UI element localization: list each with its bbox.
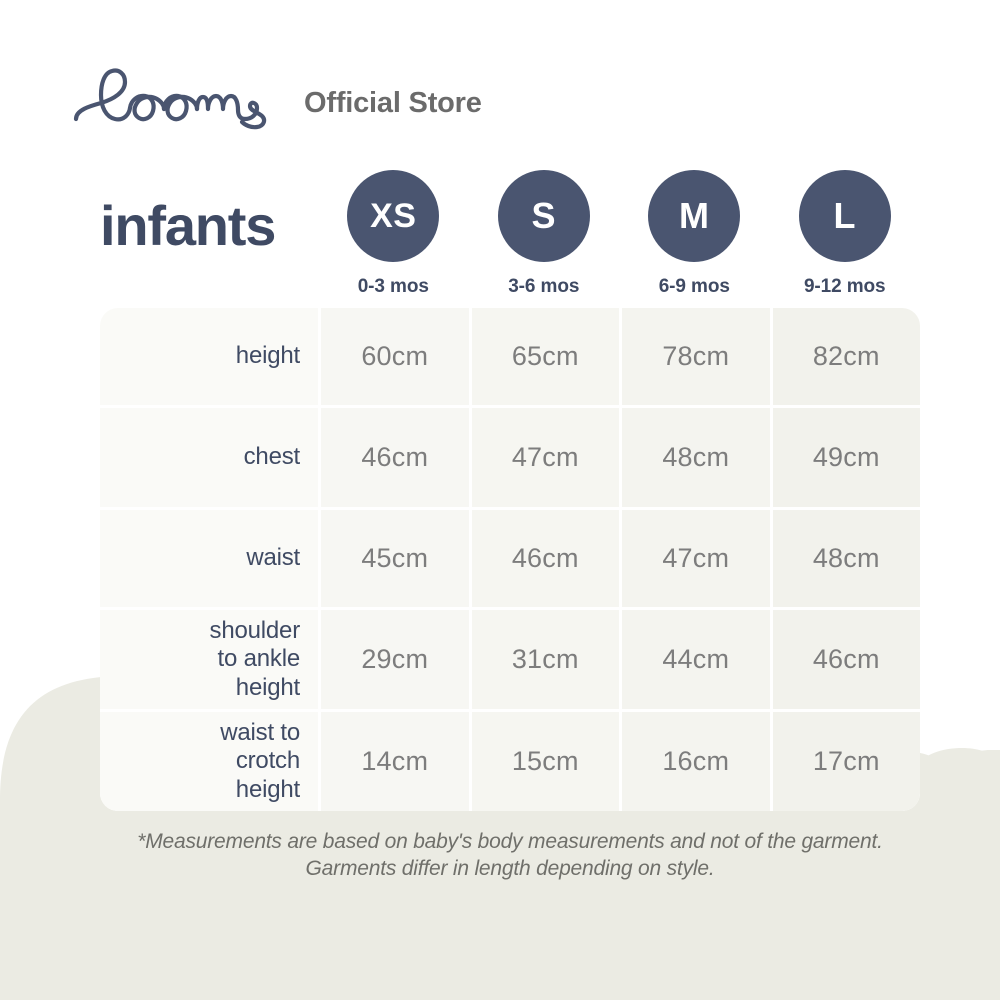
official-store-label: Official Store	[304, 87, 482, 134]
footnote: *Measurements are based on baby's body m…	[100, 828, 920, 883]
cell-shoulder-to-ankle-s: 31cm	[469, 610, 620, 709]
row-label-chest: chest	[100, 408, 318, 507]
cell-waist-l: 48cm	[770, 510, 921, 607]
table-row: waist 45cm 46cm 47cm 48cm	[100, 507, 920, 607]
table-row: waist to crotch height 14cm 15cm 16cm 17…	[100, 709, 920, 811]
cell-waist-to-crotch-l: 17cm	[770, 712, 921, 811]
cell-waist-to-crotch-xs: 14cm	[318, 712, 469, 811]
size-age-xs: 0-3 mos	[358, 276, 429, 298]
cell-height-s: 65cm	[469, 308, 620, 405]
size-age-l: 9-12 mos	[804, 276, 886, 298]
row-label-line: to ankle	[218, 645, 300, 672]
size-age-s: 3-6 mos	[508, 276, 579, 298]
footnote-line-2: Garments differ in length depending on s…	[100, 855, 920, 882]
row-label-line: waist to	[220, 719, 300, 746]
size-header-xs: XS 0-3 mos	[318, 170, 469, 298]
table-row: height 60cm 65cm 78cm 82cm	[100, 308, 920, 405]
cell-height-xs: 60cm	[318, 308, 469, 405]
row-label-text: chest	[244, 443, 300, 471]
size-badge-m: M	[648, 170, 740, 262]
row-label-text: waist	[246, 544, 300, 572]
size-header-s: S 3-6 mos	[469, 170, 620, 298]
footnote-line-1: *Measurements are based on baby's body m…	[100, 828, 920, 855]
cell-chest-l: 49cm	[770, 408, 921, 507]
cell-waist-xs: 45cm	[318, 510, 469, 607]
size-badge-xs: XS	[347, 170, 439, 262]
cell-chest-xs: 46cm	[318, 408, 469, 507]
cell-chest-m: 48cm	[619, 408, 770, 507]
brand-header: Official Store	[68, 62, 482, 134]
row-label-waist-to-crotch-height: waist to crotch height	[100, 712, 318, 811]
size-age-m: 6-9 mos	[659, 276, 730, 298]
table-row: chest 46cm 47cm 48cm 49cm	[100, 405, 920, 507]
row-label-text: waist to crotch height	[220, 719, 300, 804]
cell-waist-to-crotch-m: 16cm	[619, 712, 770, 811]
row-label-height: height	[100, 308, 318, 405]
cell-waist-s: 46cm	[469, 510, 620, 607]
cell-waist-m: 47cm	[619, 510, 770, 607]
row-label-line: shoulder	[210, 617, 300, 644]
cell-shoulder-to-ankle-m: 44cm	[619, 610, 770, 709]
row-label-line: height	[236, 776, 300, 803]
row-label-waist: waist	[100, 510, 318, 607]
row-label-line: crotch	[236, 747, 300, 774]
cell-height-m: 78cm	[619, 308, 770, 405]
cell-waist-to-crotch-s: 15cm	[469, 712, 620, 811]
cell-height-l: 82cm	[770, 308, 921, 405]
row-label-text: shoulder to ankle height	[210, 617, 300, 702]
size-badge-l: L	[799, 170, 891, 262]
cell-chest-s: 47cm	[469, 408, 620, 507]
size-header-m: M 6-9 mos	[619, 170, 770, 298]
looms-script-logo	[68, 62, 276, 134]
cell-shoulder-to-ankle-xs: 29cm	[318, 610, 469, 709]
size-header-l: L 9-12 mos	[770, 170, 921, 298]
row-label-text: height	[236, 342, 300, 370]
size-chart-table: height 60cm 65cm 78cm 82cm chest 46cm 47…	[100, 308, 920, 811]
size-header-row: XS 0-3 mos S 3-6 mos M 6-9 mos L 9-12 mo…	[318, 170, 920, 298]
page-title: infants	[100, 198, 275, 254]
size-badge-s: S	[498, 170, 590, 262]
row-label-line: height	[236, 674, 300, 701]
table-row: shoulder to ankle height 29cm 31cm 44cm …	[100, 607, 920, 709]
cell-shoulder-to-ankle-l: 46cm	[770, 610, 921, 709]
row-label-shoulder-to-ankle-height: shoulder to ankle height	[100, 610, 318, 709]
